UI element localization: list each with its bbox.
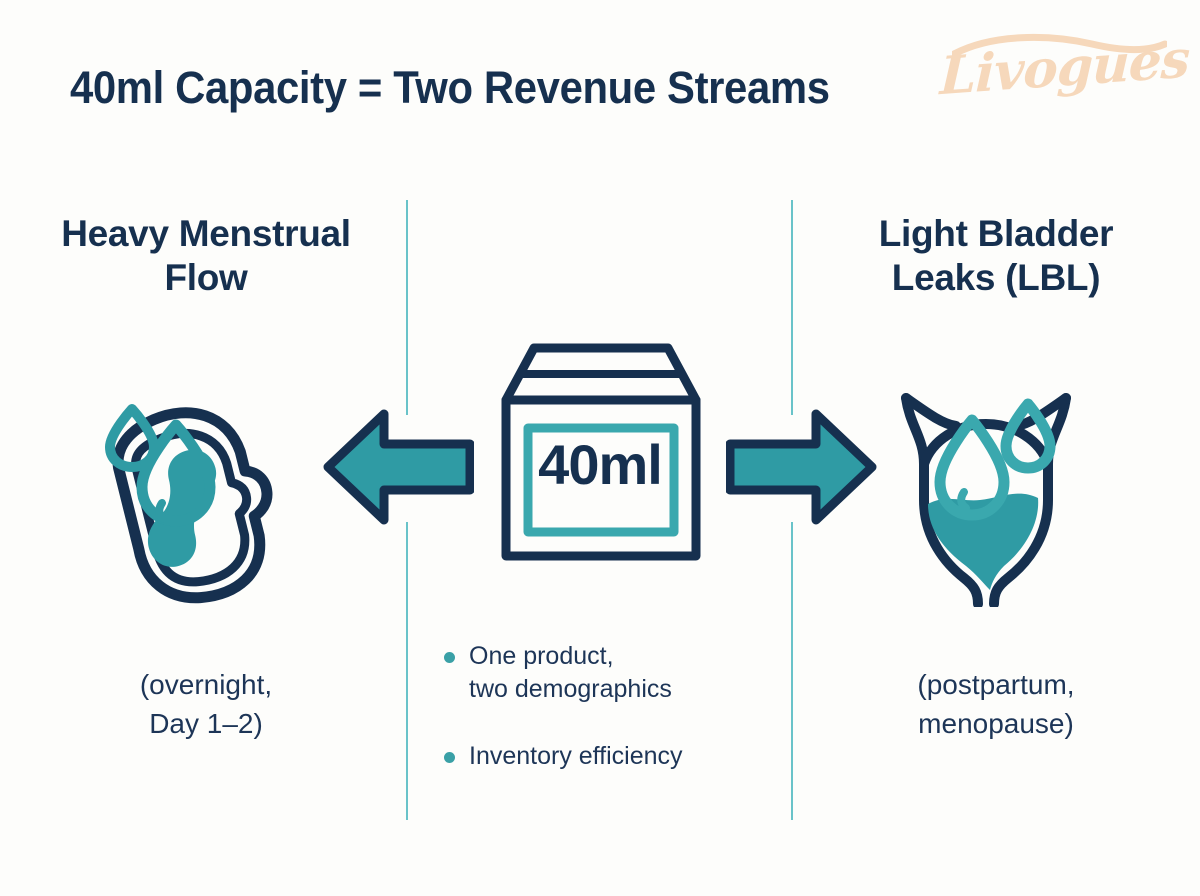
infographic-canvas: 40ml Capacity = Two Revenue Streams Livo… bbox=[0, 0, 1200, 896]
box-capacity-label: 40ml bbox=[462, 342, 738, 562]
sanitary-pad-with-droplets-icon bbox=[100, 385, 315, 607]
divider-left-lower bbox=[406, 522, 408, 820]
benefit-list: One product, two demographics Inventory … bbox=[444, 640, 774, 807]
divider-left-upper bbox=[406, 200, 408, 415]
list-item-label: Inventory efficiency bbox=[469, 740, 683, 773]
page-title: 40ml Capacity = Two Revenue Streams bbox=[70, 62, 830, 114]
divider-right-upper bbox=[791, 200, 793, 415]
list-item: One product, two demographics bbox=[444, 640, 774, 706]
divider-right-lower bbox=[791, 522, 793, 820]
bladder-with-droplets-icon bbox=[880, 382, 1092, 607]
left-column-caption: (overnight, Day 1–2) bbox=[46, 666, 366, 743]
right-column-heading: Light Bladder Leaks (LBL) bbox=[836, 212, 1156, 299]
brand-watermark: Livogues bbox=[934, 28, 1164, 120]
left-column-heading: Heavy Menstrual Flow bbox=[46, 212, 366, 299]
right-column-caption: (postpartum, menopause) bbox=[836, 666, 1156, 743]
bullet-dot-icon bbox=[444, 752, 455, 763]
arrow-right-icon bbox=[726, 408, 878, 526]
watermark-label: Livogues bbox=[939, 28, 1190, 107]
list-item-label: One product, two demographics bbox=[469, 640, 672, 706]
bullet-dot-icon bbox=[444, 652, 455, 663]
list-item: Inventory efficiency bbox=[444, 740, 774, 773]
watermark-swoosh-icon bbox=[952, 32, 1167, 62]
arrow-left-icon bbox=[322, 408, 474, 526]
shipping-box-icon: 40ml bbox=[462, 342, 738, 562]
